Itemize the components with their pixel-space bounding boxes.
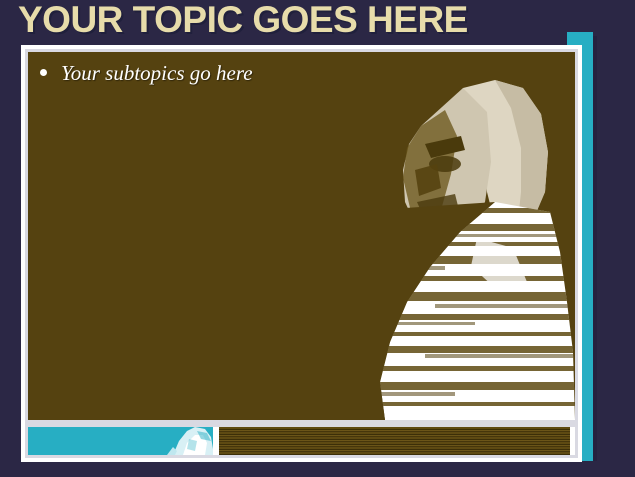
footer-teal-block [28,427,213,455]
page-title[interactable]: YOUR TOPIC GOES HERE [18,0,618,42]
list-item[interactable]: Your subtopics go here [40,61,253,86]
bullet-dot-icon [40,69,47,76]
presentation-slide: YOUR TOPIC GOES HERE [0,0,635,477]
footer-decoration-bar [28,427,575,455]
content-panel[interactable]: Your subtopics go here [28,52,575,420]
footer-stripe-band [219,427,570,455]
sphinx-fragment-icon [143,427,213,455]
subtopic-text[interactable]: Your subtopics go here [61,61,253,86]
great-sphinx-image [345,52,575,420]
teal-strip-shadow [593,36,597,461]
